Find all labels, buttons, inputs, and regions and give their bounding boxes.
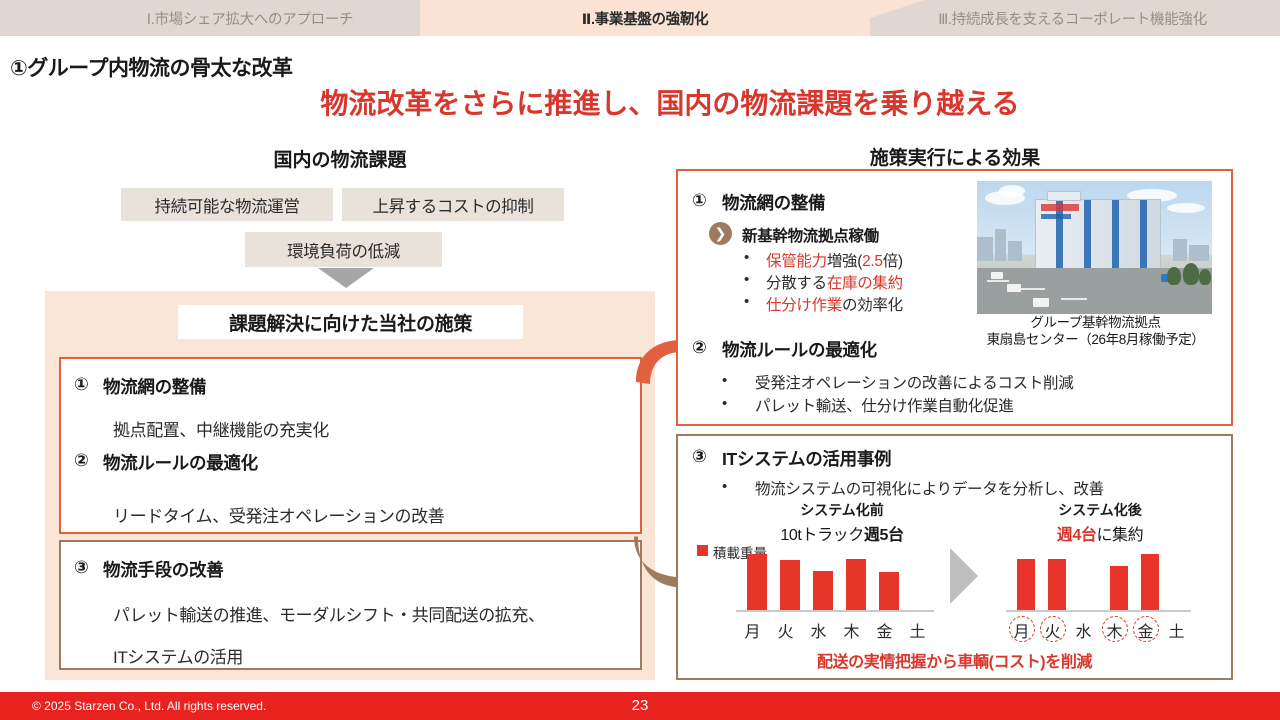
effect-2-number: ②	[692, 337, 707, 358]
x-label-土: 土	[1164, 618, 1190, 642]
effect-2-bullet-1: 受発注オペレーションの改善によるコスト削減	[755, 371, 1073, 393]
effect-1-heading: 物流網の整備	[722, 190, 825, 215]
measures-panel-title: 課題解決に向けた当社の施策	[178, 305, 523, 339]
tab-chapter-1-label: Ⅰ.市場シェア拡大へのアプローチ	[147, 8, 354, 29]
bullet-3-seg-1: 仕分け作業	[766, 297, 842, 314]
chart-after-subtitle-plain: に集約	[1096, 527, 1143, 544]
left-column-title: 国内の物流課題	[140, 145, 540, 172]
bullet-2-seg-2: 在庫の集約	[827, 275, 903, 292]
bar-火	[1048, 559, 1066, 610]
measure-3-heading: 物流手段の改善	[103, 557, 223, 582]
down-arrow-icon	[318, 268, 374, 288]
x-label-火: 火	[773, 618, 799, 642]
issue-chip-2: 上昇するコストの抑制	[342, 188, 564, 221]
effect-1-number: ①	[692, 190, 707, 211]
measure-1-number: ①	[74, 374, 89, 395]
bar-木	[846, 559, 866, 610]
measure-2-body: リードタイム、受発注オペレーションの改善	[113, 502, 444, 527]
bullet-1-seg-1: 保管能力	[766, 253, 827, 270]
chart-after-axis	[1006, 610, 1191, 612]
bullet-1-seg-4: 倍)	[883, 253, 903, 270]
measure-3-body-line-2: ITシステムの活用	[113, 643, 243, 668]
main-headline: 物流改革をさらに推進し、国内の物流課題を乗り越える	[0, 82, 1280, 122]
transition-arrow-icon	[948, 548, 984, 604]
issue-chip-1: 持続可能な物流運営	[121, 188, 333, 221]
chart-after-subtitle: 週4台に集約	[990, 521, 1210, 545]
section-nav-tabs: Ⅰ.市場シェア拡大へのアプローチ Ⅲ.持続成長を支えるコーポレート機能強化 Ⅱ.…	[0, 0, 1280, 36]
bullet-icon-2: •	[744, 271, 749, 288]
tab-chapter-2-label: Ⅱ.事業基盤の強靭化	[582, 8, 709, 29]
logo-mark-icon	[1055, 697, 1085, 715]
effect-1-bullet-1: 保管能力増強(2.5倍)	[766, 249, 903, 271]
effect-1-bullet-2: 分散する在庫の集約	[766, 271, 903, 293]
x-label-木: 木	[839, 618, 865, 642]
measure-1-body: 拠点配置、中継機能の充実化	[113, 416, 329, 441]
logo-text-label: スターゼングループ	[1091, 698, 1252, 719]
measure-2-number: ②	[74, 450, 89, 471]
measure-3-number: ③	[74, 557, 89, 578]
chart-before-subtitle-plain: 10tトラック	[780, 527, 863, 544]
bar-月	[1017, 559, 1035, 610]
bullet-2-seg-1: 分散する	[766, 275, 827, 292]
chart-after-subtitle-bold: 週4台	[1057, 527, 1097, 544]
chart-before-legend-swatch	[697, 545, 708, 556]
bar-木	[1110, 566, 1128, 610]
measure-2-heading: 物流ルールの最適化	[103, 450, 258, 475]
chart-caption: 配送の実情把握から車輌(コスト)を削減	[676, 648, 1233, 672]
effect-2-bullet-2: パレット輸送、仕分け作業自動化促進	[755, 394, 1013, 416]
issue-chip-3: 環境負荷の低減	[245, 232, 442, 267]
slide-root: Ⅰ.市場シェア拡大へのアプローチ Ⅲ.持続成長を支えるコーポレート機能強化 Ⅱ.…	[0, 0, 1280, 720]
right-column-title: 施策実行による効果	[680, 143, 1230, 170]
chevron-right-icon: ❯	[709, 222, 732, 245]
bullet-icon-5: •	[722, 395, 727, 412]
bar-金	[879, 572, 899, 610]
logistics-center-photo	[977, 181, 1212, 314]
bullet-icon-4: •	[722, 372, 727, 389]
bar-水	[813, 571, 833, 610]
x-label-土: 土	[905, 618, 931, 642]
bullet-1-seg-2: 増強(	[827, 253, 862, 270]
effect-1-bullet-3: 仕分け作業の効率化	[766, 293, 903, 315]
x-label-金: 金	[872, 618, 898, 642]
bar-月	[747, 554, 767, 610]
tab-chapter-3-label: Ⅲ.持続成長を支えるコーポレート機能強化	[938, 8, 1207, 29]
x-label-火: 火	[1040, 618, 1066, 642]
chart-before-title: システム化前	[742, 500, 942, 520]
nav-underline	[0, 36, 1280, 39]
x-label-月: 月	[740, 618, 766, 642]
bullet-1-seg-3: 2.5	[862, 253, 883, 270]
tab-chapter-2[interactable]: Ⅱ.事業基盤の強靭化	[420, 0, 870, 36]
bullet-icon-1: •	[744, 249, 749, 266]
photo-caption-line-1: グループ基幹物流拠点	[958, 315, 1233, 332]
bullet-icon-3: •	[744, 293, 749, 310]
effect-3-heading: ITシステムの活用事例	[722, 446, 891, 471]
logo-text: スターゼングループ®	[1091, 693, 1258, 720]
bar-火	[780, 560, 800, 610]
effect-3-bullet-1: 物流システムの可視化によりデータを分析し、改善	[755, 477, 1104, 499]
page-title: ①グループ内物流の骨太な改革	[10, 52, 293, 82]
x-label-月: 月	[1009, 618, 1035, 642]
photo-caption-line-2: 東扇島センター（26年8月稼働予定）	[958, 332, 1233, 349]
chart-after-plot	[1010, 548, 1195, 610]
x-label-木: 木	[1102, 618, 1128, 642]
chart-before-plot	[740, 548, 940, 610]
effect-1-subheading: 新基幹物流拠点稼働	[742, 224, 879, 246]
bullet-3-seg-2: の効率化	[842, 297, 903, 314]
effect-2-heading: 物流ルールの最適化	[722, 337, 877, 362]
x-label-水: 水	[806, 618, 832, 642]
effect-3-number: ③	[692, 446, 707, 467]
photo-caption: グループ基幹物流拠点 東扇島センター（26年8月稼働予定）	[958, 315, 1233, 349]
bullet-icon-6: •	[722, 478, 727, 495]
chart-before-subtitle-bold: 週5台	[864, 527, 904, 544]
chart-before-axis	[736, 610, 934, 612]
measure-3-body-line-1: パレット輸送の推進、モーダルシフト・共同配送の拡充、	[113, 601, 545, 626]
x-label-水: 水	[1071, 618, 1097, 642]
bar-金	[1141, 554, 1159, 610]
chart-after-title: システム化後	[1000, 500, 1200, 520]
company-logo: スターゼングループ®	[1055, 694, 1258, 718]
measure-1-heading: 物流網の整備	[103, 374, 206, 399]
x-label-金: 金	[1133, 618, 1159, 642]
